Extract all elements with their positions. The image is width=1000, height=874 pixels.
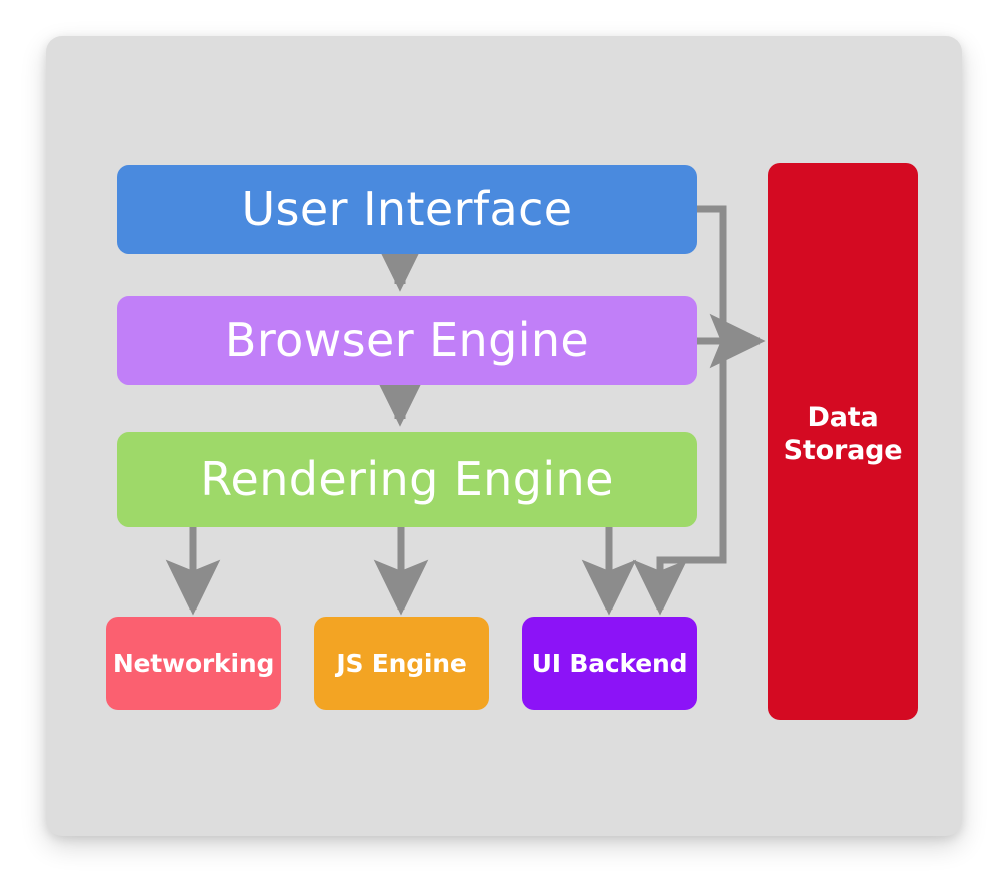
node-data-storage-label: Data Storage	[784, 402, 903, 468]
node-ui-backend-label: UI Backend	[532, 650, 688, 678]
node-js-engine[interactable]: JS Engine	[314, 617, 489, 710]
node-rendering-engine-label: Rendering Engine	[200, 454, 614, 506]
node-data-storage-label-line2: Storage	[784, 435, 903, 466]
node-user-interface-label: User Interface	[241, 184, 572, 236]
node-browser-engine-label: Browser Engine	[225, 315, 589, 367]
node-rendering-engine[interactable]: Rendering Engine	[117, 432, 697, 527]
diagram-canvas: User Interface Browser Engine Rendering …	[0, 0, 1000, 874]
node-ui-backend[interactable]: UI Backend	[522, 617, 697, 710]
node-networking-label: Networking	[113, 650, 274, 678]
node-data-storage-label-line1: Data	[808, 402, 879, 433]
node-user-interface[interactable]: User Interface	[117, 165, 697, 254]
node-data-storage[interactable]: Data Storage	[768, 163, 918, 720]
node-networking[interactable]: Networking	[106, 617, 281, 710]
node-js-engine-label: JS Engine	[336, 650, 466, 678]
node-browser-engine[interactable]: Browser Engine	[117, 296, 697, 385]
